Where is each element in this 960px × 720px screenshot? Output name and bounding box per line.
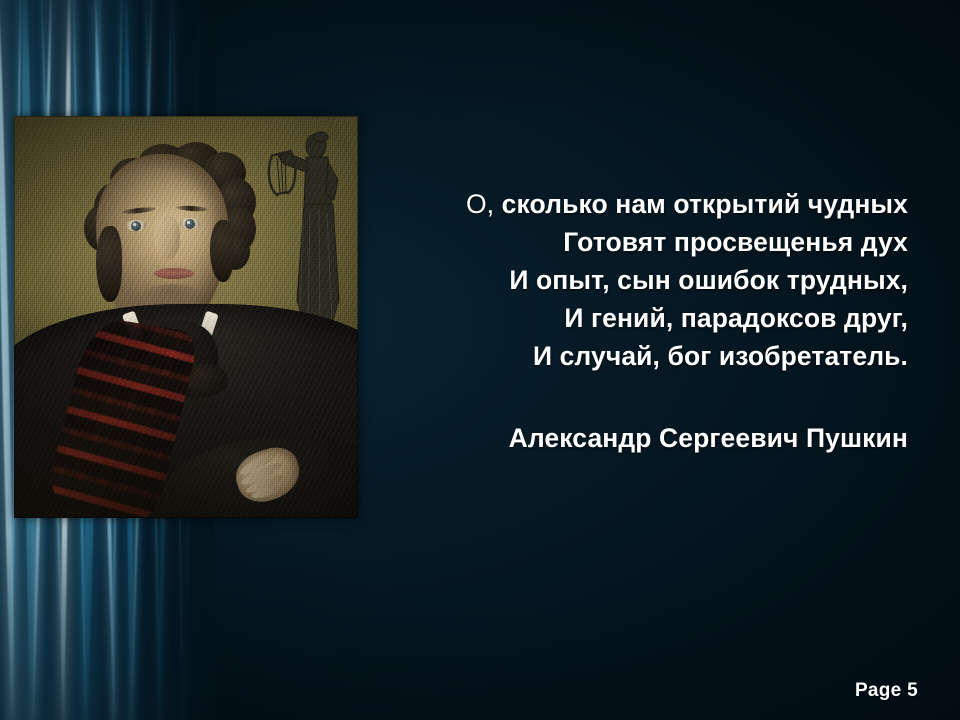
poem-line-text: И опыт, сын ошибок трудных, <box>509 265 908 295</box>
poem-line-text: И гений, парадоксов друг, <box>564 303 908 333</box>
poem: О, сколько нам открытий чудныхГотовят пр… <box>300 185 908 375</box>
poem-line-text: сколько нам открытий чудных <box>494 189 908 219</box>
poem-line: О, сколько нам открытий чудных <box>300 185 908 223</box>
poem-line: И опыт, сын ошибок трудных, <box>300 261 908 299</box>
poem-line: Готовят просвещенья дух <box>300 223 908 261</box>
poem-line-text: И случай, бог изобретатель. <box>533 341 908 371</box>
quote-author: Александр Сергеевич Пушкин <box>300 419 908 457</box>
poem-line-text: Готовят просвещенья дух <box>563 227 908 257</box>
page-number-label: Page 5 <box>855 680 918 702</box>
poem-line: И случай, бог изобретатель. <box>300 337 908 375</box>
poem-line: И гений, парадоксов друг, <box>300 299 908 337</box>
poem-line-lead: О, <box>466 189 494 219</box>
presentation-slide: О, сколько нам открытий чудныхГотовят пр… <box>0 0 960 720</box>
quote-text-block: О, сколько нам открытий чудныхГотовят пр… <box>300 185 908 457</box>
